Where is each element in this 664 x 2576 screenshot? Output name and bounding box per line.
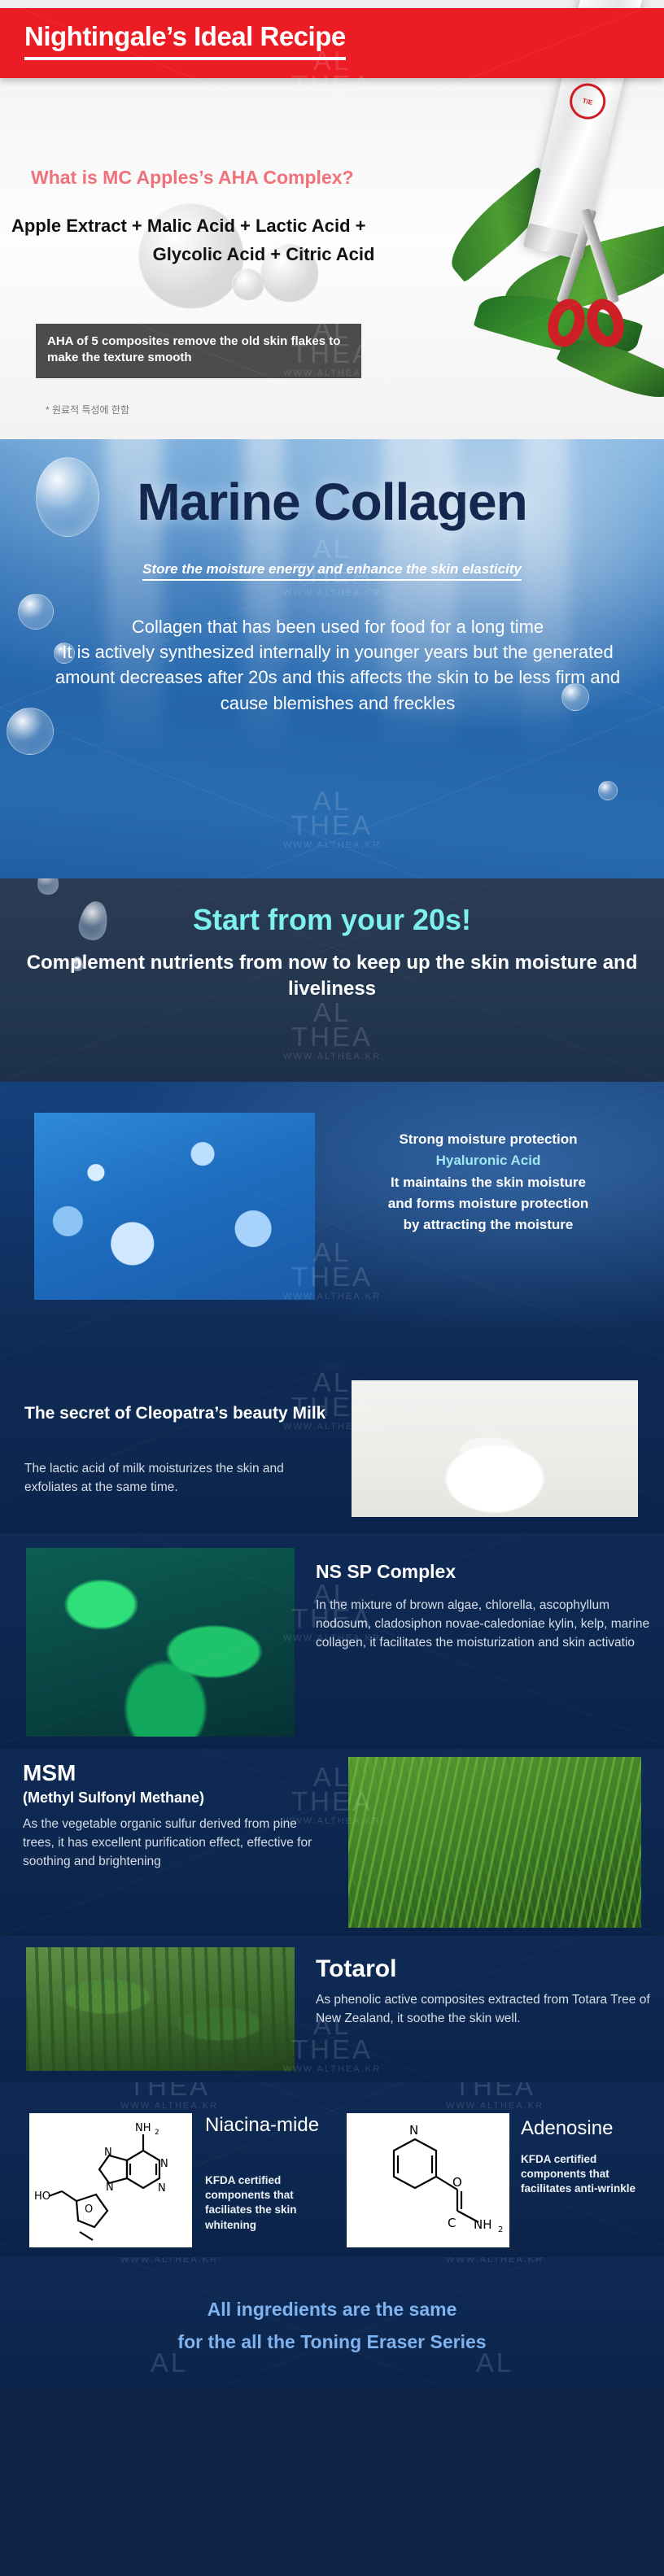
hyaluronic-image bbox=[34, 1113, 315, 1300]
milk-image bbox=[352, 1380, 638, 1517]
aha-formula-line-1: Apple Extract + Malic Acid + Lactic Acid… bbox=[11, 216, 516, 237]
watermark-brand: AL bbox=[0, 789, 664, 813]
watermark-brand: THEA bbox=[0, 2082, 501, 2099]
bubble-decoration bbox=[7, 708, 54, 755]
hyaluronic-text: Strong moisture protection Hyaluronic Ac… bbox=[325, 1129, 651, 1236]
watermark-url: WWW.ALTHEA.KR bbox=[0, 2257, 501, 2264]
msm-subheading: (Methyl Sulfonyl Methane) bbox=[23, 1789, 204, 1807]
section-marine-collagen: Marine Collagen Store the moisture energ… bbox=[0, 439, 664, 878]
bubble-decoration bbox=[598, 781, 618, 800]
svg-text:N: N bbox=[158, 2182, 166, 2195]
marine-collagen-subtitle: Store the moisture energy and enhance th… bbox=[0, 561, 664, 578]
msm-heading: MSM bbox=[23, 1760, 76, 1786]
hyaluronic-accent: Hyaluronic Acid bbox=[325, 1150, 651, 1171]
start-20s-headline: Start from your 20s! bbox=[0, 903, 664, 937]
droplet-icon bbox=[37, 878, 59, 895]
watermark-brand: AL bbox=[0, 1000, 664, 1025]
totarol-body: As phenolic active composites extracted … bbox=[316, 1991, 651, 2029]
adenosine-desc: KFDA certified components that facilitat… bbox=[521, 2152, 659, 2197]
aha-callout: AHA of 5 composites remove the old skin … bbox=[36, 324, 361, 378]
nssp-body: In the mixture of brown algae, chlorella… bbox=[316, 1597, 653, 1653]
title-band: Nightingale’s Ideal Recipe bbox=[0, 8, 664, 78]
nssp-heading: NS SP Complex bbox=[316, 1561, 456, 1583]
hyaluronic-line-3: and forms moisture protection bbox=[325, 1193, 651, 1214]
watermark-url: WWW.ALTHEA.KR bbox=[163, 2101, 664, 2111]
svg-text:NH: NH bbox=[474, 2217, 492, 2232]
adenosine-name: Adenosine bbox=[521, 2118, 659, 2138]
totarol-heading: Totarol bbox=[316, 1955, 396, 1983]
section-footer: All ingredients are the same for the all… bbox=[0, 2257, 664, 2389]
section-totarol: Totarol As phenolic active composites ex… bbox=[0, 1936, 664, 2082]
svg-text:N: N bbox=[106, 2182, 114, 2194]
svg-text:HO: HO bbox=[34, 2190, 50, 2203]
hyaluronic-line-4: by attracting the moisture bbox=[325, 1214, 651, 1236]
section-cleopatra: The secret of Cleopatra’s beauty Milk Th… bbox=[0, 1362, 664, 1533]
footer-line-2: for the all the Toning Eraser Series bbox=[0, 2325, 664, 2358]
niacinamide-structure-image: NH2 N N N N O HO bbox=[29, 2113, 192, 2247]
aha-footnote: * 원료적 특성에 한함 bbox=[46, 403, 129, 416]
footer-text: All ingredients are the same for the all… bbox=[0, 2293, 664, 2359]
svg-text:C: C bbox=[448, 2216, 456, 2230]
svg-text:O: O bbox=[85, 2203, 93, 2216]
section-start-20s: Start from your 20s! Complement nutrient… bbox=[0, 878, 664, 1082]
marine-collagen-body: Collagen that has been used for food for… bbox=[49, 614, 627, 716]
section-hyaluronic-acid: Strong moisture protection Hyaluronic Ac… bbox=[0, 1082, 664, 1362]
aha-question: What is MC Apples’s AHA Complex? bbox=[31, 167, 354, 189]
footer-line-1: All ingredients are the same bbox=[0, 2293, 664, 2325]
forest-image bbox=[26, 1947, 295, 2071]
msm-body: As the vegetable organic sulfur derived … bbox=[23, 1815, 316, 1872]
hyaluronic-line-1: Strong moisture protection bbox=[325, 1129, 651, 1150]
hyaluronic-line-2: It maintains the skin moisture bbox=[325, 1172, 651, 1193]
section-msm: MSM (Methyl Sulfonyl Methane) As the veg… bbox=[0, 1749, 664, 1936]
page-title: Nightingale’s Ideal Recipe bbox=[24, 21, 346, 60]
scissors-icon bbox=[534, 207, 640, 370]
marine-collagen-title: Marine Collagen bbox=[0, 472, 664, 532]
watermark-brand: THEA bbox=[163, 2082, 664, 2099]
grass-image bbox=[348, 1757, 641, 1928]
svg-text:2: 2 bbox=[498, 2225, 503, 2234]
niacinamide-name: Niacina-mide bbox=[205, 2115, 335, 2135]
watermark-url: WWW.ALTHEA.KR bbox=[0, 2101, 501, 2111]
cleopatra-body: The lactic acid of milk moisturizes the … bbox=[24, 1460, 305, 1497]
algae-image bbox=[26, 1548, 295, 1737]
bubble-decoration bbox=[232, 268, 264, 301]
section-ns-sp-complex: NS SP Complex In the mixture of brown al… bbox=[0, 1533, 664, 1749]
niacinamide-desc: KFDA certified components that faciliate… bbox=[205, 2173, 335, 2233]
adenosine-structure-image: N O C NH2 bbox=[347, 2113, 509, 2247]
watermark-url: WWW.ALTHEA.KR bbox=[0, 1052, 664, 1061]
watermark-url: WWW.ALTHEA.KR bbox=[0, 840, 664, 850]
cleopatra-heading: The secret of Cleopatra’s beauty Milk bbox=[24, 1401, 334, 1426]
infographic-page: NIGHTINGALE T/E Nightingale’s Ideal Reci… bbox=[0, 0, 664, 2576]
svg-text:N: N bbox=[104, 2147, 112, 2159]
svg-text:2: 2 bbox=[155, 2129, 159, 2137]
svg-text:N: N bbox=[409, 2123, 418, 2138]
svg-text:N: N bbox=[160, 2158, 168, 2170]
svg-text:NH: NH bbox=[135, 2122, 151, 2134]
watermark-brand: THEA bbox=[0, 813, 664, 838]
aha-formula-line-2: Glycolic Acid + Citric Acid bbox=[11, 244, 516, 265]
section-certified-ingredients: NH2 N N N N O HO Niacina-mide KFDA certi… bbox=[0, 2082, 664, 2257]
product-logo-icon: T/E bbox=[566, 80, 609, 123]
svg-text:O: O bbox=[452, 2175, 462, 2190]
watermark-url: WWW.ALTHEA.KR bbox=[163, 2257, 664, 2264]
section-aha: NIGHTINGALE T/E Nightingale’s Ideal Reci… bbox=[0, 0, 664, 439]
watermark-brand: THEA bbox=[0, 1025, 664, 1049]
start-20s-subline: Complement nutrients from now to keep up… bbox=[16, 950, 648, 1003]
